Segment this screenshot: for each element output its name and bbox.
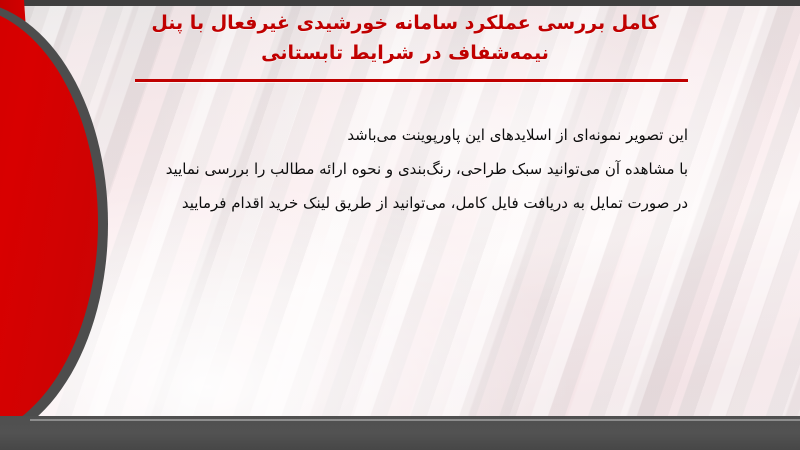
title-underline-rule xyxy=(135,79,688,82)
body-line-1: این تصویر نمونه‌ای از اسلایدهای این پاور… xyxy=(112,118,688,152)
slide-canvas: کامل بررسی عملکرد سامانه خورشیدی غیرفعال… xyxy=(0,0,800,450)
body-line-2: با مشاهده آن می‌توانید سبک طراحی، رنگ‌بن… xyxy=(112,152,688,186)
slide-title: کامل بررسی عملکرد سامانه خورشیدی غیرفعال… xyxy=(40,8,770,68)
slide-body-text: این تصویر نمونه‌ای از اسلایدهای این پاور… xyxy=(112,118,688,220)
body-line-3: در صورت تمایل به دریافت فایل کامل، می‌تو… xyxy=(112,186,688,220)
slide-title-line-1: کامل بررسی عملکرد سامانه خورشیدی غیرفعال… xyxy=(40,8,770,38)
slide-title-line-2: نیمه‌شفاف در شرایط تابستانی xyxy=(40,38,770,68)
